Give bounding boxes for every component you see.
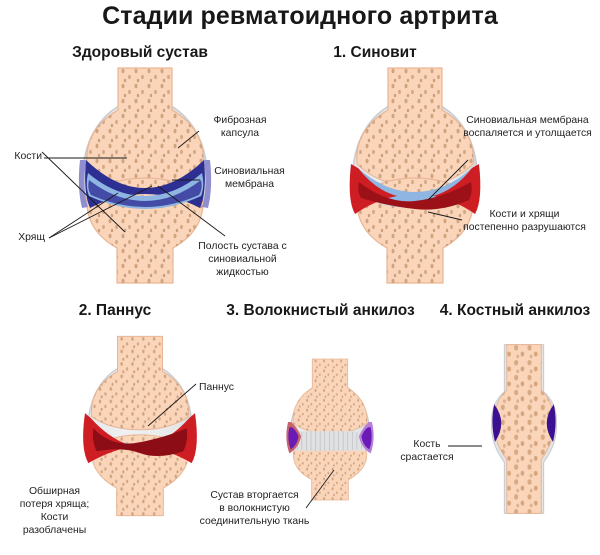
label-bone-fusing: Костьсрастается: [396, 438, 458, 464]
leaders-synovitis: [300, 60, 600, 290]
label-bone-cartilage-destroyed: Кости и хрящипостепенно разрушаются: [452, 208, 597, 234]
label-bones-healthy: Кости: [0, 150, 42, 163]
label-pannus: Паннус: [199, 381, 269, 394]
label-fibrous-capsule: Фибрознаякапсула: [195, 114, 285, 140]
stage-title-fibrous-ankylosis: 3. Волокнистый анкилоз: [213, 302, 428, 320]
label-synovium-inflamed: Синовиальная мембранавоспаляется и утолщ…: [455, 114, 600, 140]
label-fibrous-invasion: Сустав вторгаетсяв волокнистуюсоединител…: [187, 489, 322, 528]
stage-title-pannus: 2. Паннус: [40, 302, 190, 320]
leaders-fibrous-ankylosis: [190, 420, 390, 550]
label-cartilage-loss: Обширнаяпотеря хряща;Костиразоблачены: [2, 485, 107, 537]
stage-title-bony-ankylosis: 4. Костный анкилоз: [430, 302, 600, 320]
diagram-canvas: Стадии ревматоидного артрита Здоровый су…: [0, 0, 600, 555]
label-cartilage-healthy: Хрящ: [0, 231, 45, 244]
label-joint-cavity: Полость сустава ссиновиальной жидкостью: [185, 240, 300, 279]
label-synovial-membrane: Синовиальнаямембрана: [202, 165, 297, 191]
